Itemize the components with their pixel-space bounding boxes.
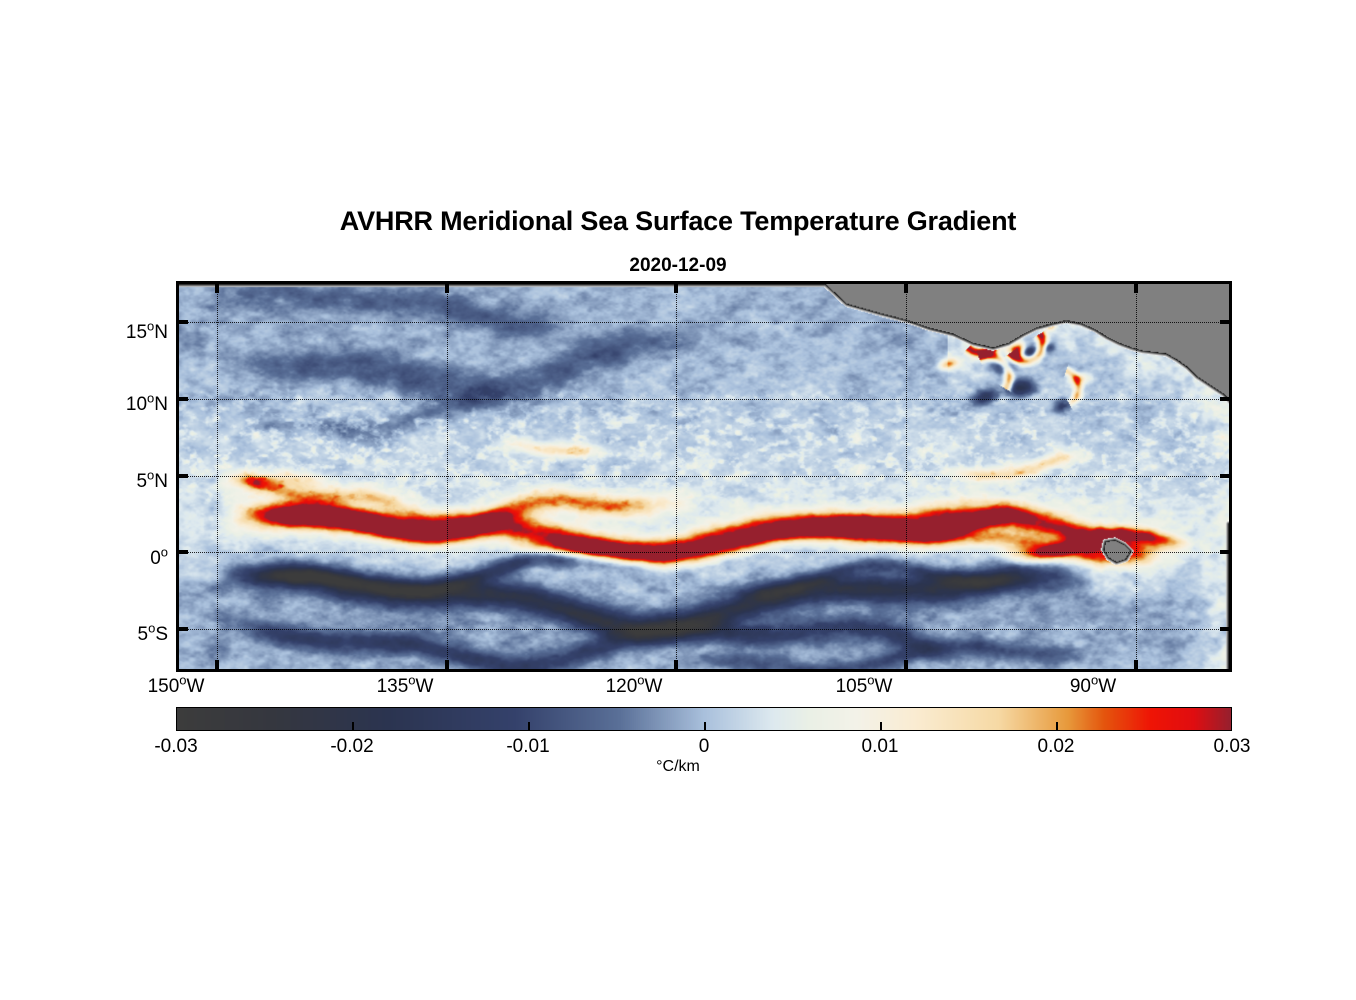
colorbar-tick xyxy=(880,722,882,731)
ytick-mark xyxy=(1220,550,1229,554)
ytick-label-10N: 10oN xyxy=(108,394,168,416)
ytick-label-0: 0o xyxy=(108,548,168,570)
ytick-mark xyxy=(1220,397,1229,401)
ytick-mark xyxy=(1220,627,1229,631)
colorbar-unit-label: °C/km xyxy=(0,758,1356,776)
map-axes xyxy=(176,281,1232,672)
xtick-label-120W: 120oW xyxy=(574,676,694,698)
ytick-mark xyxy=(179,627,188,631)
colorbar xyxy=(176,707,1232,731)
colorbar-label-6: 0.03 xyxy=(1172,736,1292,758)
figure: AVHRR Meridional Sea Surface Temperature… xyxy=(0,0,1356,1000)
xtick-mark xyxy=(445,660,449,669)
colorbar-tick xyxy=(704,722,706,731)
chart-subtitle: 2020-12-09 xyxy=(0,255,1356,277)
gridline-lon-150°W xyxy=(217,284,218,669)
xtick-mark xyxy=(215,660,219,669)
gridline-lat-0° xyxy=(179,552,1229,553)
colorbar-tick xyxy=(352,722,354,731)
xtick-mark xyxy=(904,660,908,669)
colorbar-label-5: 0.02 xyxy=(996,736,1116,758)
gridline-lon-120°W xyxy=(676,284,677,669)
gridline-lon-135°W xyxy=(447,284,448,669)
xtick-label-90W: 90oW xyxy=(1033,676,1153,698)
colorbar-label-3: 0 xyxy=(644,736,764,758)
gridline-lat-15°N xyxy=(179,322,1229,323)
xtick-mark xyxy=(904,284,908,293)
colorbar-label-4: 0.01 xyxy=(820,736,940,758)
colorbar-label-1: -0.02 xyxy=(292,736,412,758)
xtick-mark xyxy=(1134,660,1138,669)
xtick-mark xyxy=(445,284,449,293)
ytick-mark xyxy=(1220,320,1229,324)
chart-title: AVHRR Meridional Sea Surface Temperature… xyxy=(0,206,1356,237)
ytick-label-5S: 5oS xyxy=(108,624,168,646)
xtick-mark xyxy=(674,660,678,669)
gridline-lat-5°N xyxy=(179,476,1229,477)
xtick-label-135W: 135oW xyxy=(345,676,465,698)
gridline-lat-10°N xyxy=(179,399,1229,400)
xtick-mark xyxy=(1134,284,1138,293)
gridline-lon-105°W xyxy=(906,284,907,669)
xtick-label-105W: 105oW xyxy=(804,676,924,698)
colorbar-label-2: -0.01 xyxy=(468,736,588,758)
ytick-mark xyxy=(1220,474,1229,478)
ytick-mark xyxy=(179,474,188,478)
ytick-mark xyxy=(179,550,188,554)
xtick-mark xyxy=(674,284,678,293)
colorbar-label-0: -0.03 xyxy=(116,736,236,758)
gridline-lat-5°S xyxy=(179,629,1229,630)
ytick-mark xyxy=(179,397,188,401)
xtick-label-150W: 150oW xyxy=(116,676,236,698)
ytick-label-5N: 5oN xyxy=(108,471,168,493)
colorbar-tick xyxy=(528,722,530,731)
gridline-lon-90°W xyxy=(1136,284,1137,669)
ytick-label-15N: 15oN xyxy=(108,322,168,344)
colorbar-tick xyxy=(1056,722,1058,731)
xtick-mark xyxy=(215,284,219,293)
ytick-mark xyxy=(179,320,188,324)
